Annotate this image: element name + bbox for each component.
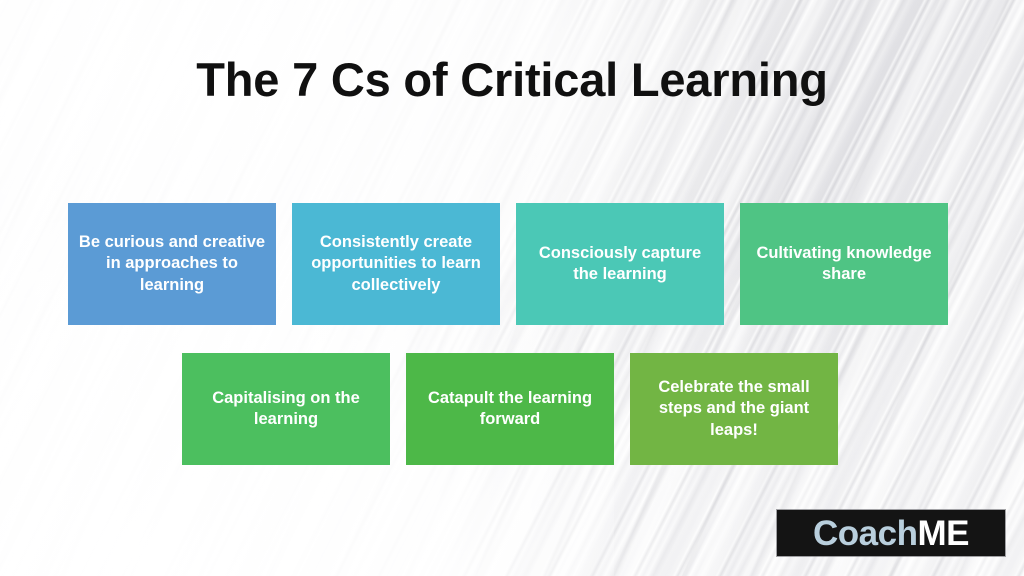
card-row-top: Be curious and creative in approaches to… [68, 203, 948, 325]
card-label: Be curious and creative in approaches to… [78, 232, 266, 296]
slide-canvas: The 7 Cs of Critical Learning Be curious… [0, 0, 1024, 576]
card-capitalising[interactable]: Capitalising on the learning [182, 353, 390, 465]
logo-wordmark: CoachME [813, 516, 969, 551]
page-title: The 7 Cs of Critical Learning [0, 52, 1024, 107]
logo-text-me: ME [917, 516, 969, 551]
card-label: Consciously capture the learning [526, 243, 714, 286]
card-cultivating-knowledge[interactable]: Cultivating knowledge share [740, 203, 948, 325]
card-label: Celebrate the small steps and the giant … [640, 377, 828, 441]
card-catapult[interactable]: Catapult the learning forward [406, 353, 614, 465]
card-label: Consistently create opportunities to lea… [302, 232, 490, 296]
logo-text-coach: Coach [813, 516, 917, 551]
card-celebrate[interactable]: Celebrate the small steps and the giant … [630, 353, 838, 465]
coachme-logo: CoachME [777, 510, 1005, 556]
card-consciously-capture[interactable]: Consciously capture the learning [516, 203, 724, 325]
card-consistently-create[interactable]: Consistently create opportunities to lea… [292, 203, 500, 325]
card-label: Cultivating knowledge share [750, 243, 938, 286]
card-label: Capitalising on the learning [192, 388, 380, 431]
card-be-curious[interactable]: Be curious and creative in approaches to… [68, 203, 276, 325]
card-row-bottom: Capitalising on the learning Catapult th… [182, 353, 838, 465]
card-label: Catapult the learning forward [416, 388, 604, 431]
